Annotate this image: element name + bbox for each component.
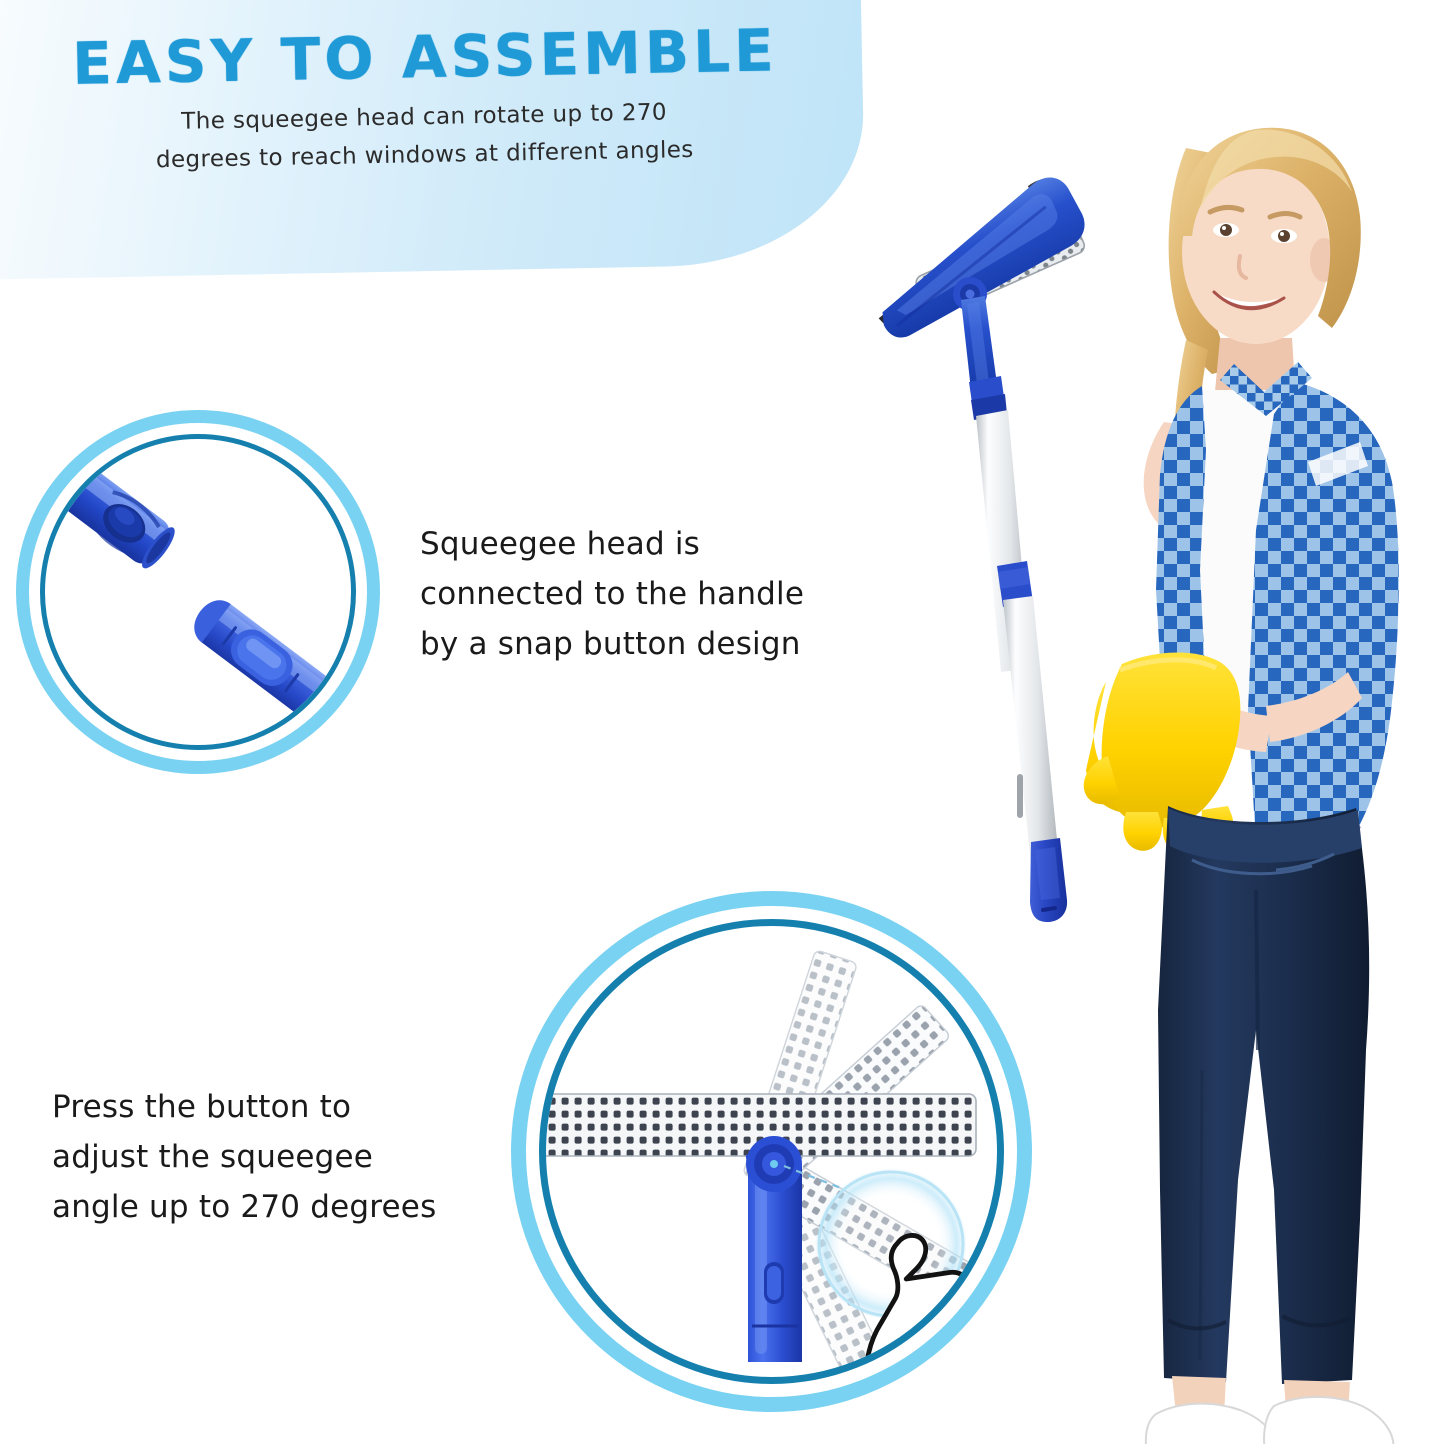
feature-snap-line-1: Squeegee head is bbox=[420, 519, 920, 569]
feature-snap-line-2: connected to the handle bbox=[420, 569, 920, 619]
feature-snap-line-3: by a snap button design bbox=[420, 619, 920, 669]
inset-outer-ring bbox=[16, 410, 380, 774]
feature-text-snap-button: Squeegee head is connected to the handle… bbox=[420, 519, 920, 670]
header-banner-content: EASY TO ASSEMBLE The squeegee head can r… bbox=[0, 0, 866, 280]
pole-slot bbox=[1017, 774, 1023, 818]
pole-lower bbox=[1003, 596, 1059, 864]
feature-press-line-2: adjust the squeegee bbox=[52, 1132, 522, 1182]
page-title: EASY TO ASSEMBLE bbox=[46, 16, 779, 98]
feature-text-press-button: Press the button to adjust the squeegee … bbox=[52, 1082, 522, 1233]
feature-press-line-1: Press the button to bbox=[52, 1082, 522, 1132]
feature-press-line-3: angle up to 270 degrees bbox=[52, 1182, 522, 1232]
inset-bottom-outer-ring bbox=[511, 891, 1032, 1412]
jeans bbox=[1158, 806, 1369, 1384]
inset-rotation-270-degrees bbox=[511, 891, 1032, 1412]
inset-snap-button-connection bbox=[16, 410, 380, 774]
